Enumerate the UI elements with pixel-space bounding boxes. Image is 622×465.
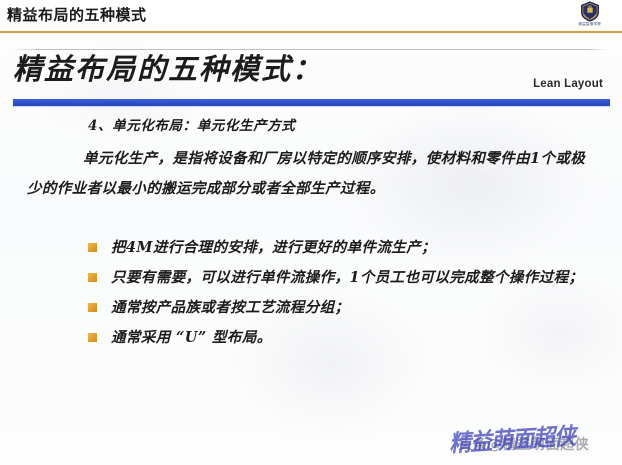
- list-item: 只要有需要，可以进行单件流操作，1个员工也可以完成整个操作过程；: [27, 263, 602, 293]
- page-title: 精益布局的五种模式: [7, 4, 147, 25]
- list-item: 把4M进行合理的安排，进行更好的单件流生产；: [27, 233, 602, 263]
- slide-canvas: 精益布局的五种模式： Lean Layout 4、单元化布局：单元化生产方式 单…: [0, 34, 622, 465]
- slide-screenshot: 精益布局的五种模式 精益智造学院 精益布局的五种模式： Lean Layout …: [0, 0, 622, 465]
- header-divider: [0, 31, 622, 33]
- bullet-list: 把4M进行合理的安排，进行更好的单件流生产； 只要有需要，可以进行单件流操作，1…: [27, 233, 602, 353]
- slide-title: 精益布局的五种模式：: [13, 55, 323, 84]
- bullet-square-icon: [88, 333, 97, 342]
- list-item: 通常按产品族或者按工艺流程分组；: [27, 293, 602, 323]
- slide-subtitle: Lean Layout: [533, 78, 603, 90]
- list-item-label: 通常按产品族或者按工艺流程分组；: [111, 293, 602, 323]
- section-paragraph: 单元化生产，是指将设备和厂房以特定的顺序安排，使材料和零件由1个或极少的作业者以…: [27, 144, 597, 204]
- bullet-square-icon: [88, 303, 97, 312]
- list-item-label: 只要有需要，可以进行单件流操作，1个员工也可以完成整个操作过程；: [27, 263, 602, 293]
- section-heading: 4、单元化布局：单元化生产方式: [88, 114, 295, 134]
- slide-top-rule: [14, 49, 608, 50]
- list-item-label: 把4M进行合理的安排，进行更好的单件流生产；: [111, 233, 602, 263]
- academy-crest-caption: 精益智造学院: [579, 23, 602, 26]
- academy-crest-icon: 精益智造学院: [575, 1, 605, 31]
- bullet-square-icon: [88, 243, 97, 252]
- list-item-label: 通常采用 “U” 型布局。: [111, 323, 602, 353]
- list-item: 通常采用 “U” 型布局。: [27, 323, 602, 353]
- bullet-square-icon: [88, 273, 97, 282]
- page-header: 精益布局的五种模式 精益智造学院: [0, 0, 622, 31]
- slide-title-accent-bar: [13, 99, 610, 106]
